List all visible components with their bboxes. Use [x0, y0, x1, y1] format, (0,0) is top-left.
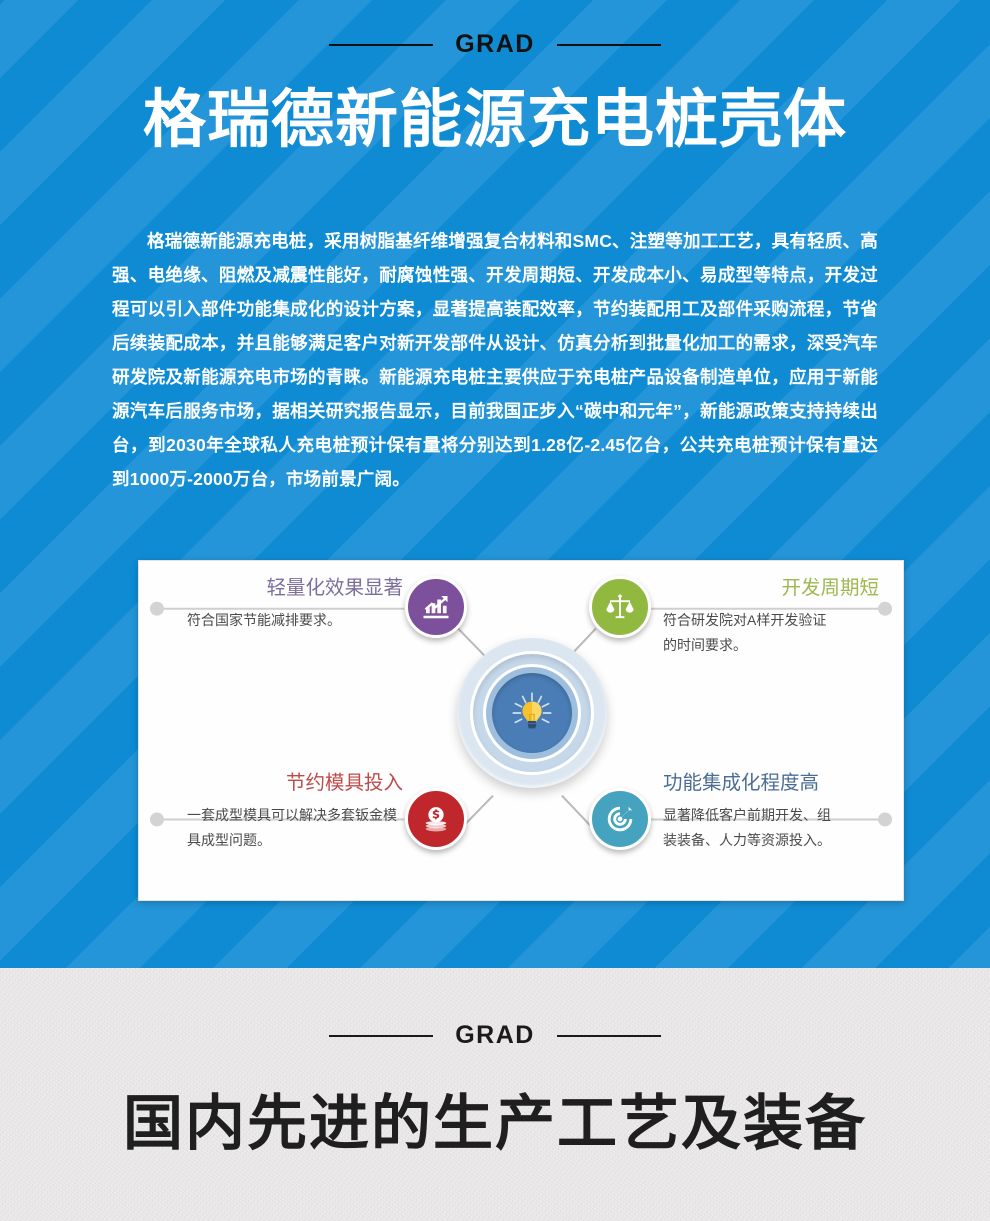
bottom-gray-section: GRAD 国内先进的生产工艺及装备 — [0, 968, 990, 1221]
bottom-eyebrow: GRAD — [0, 968, 990, 1048]
advantage-node-bottom-left — [405, 788, 467, 850]
advantage-description: 符合研发院对A样开发验证的时间要求。 — [637, 608, 827, 658]
advantage-block-top-right: 开发周期短 符合研发院对A样开发验证的时间要求。 — [637, 578, 881, 658]
advantage-description: 一套成型模具可以解决多套钣金模具成型问题。 — [163, 803, 407, 853]
balance-scale-icon — [605, 592, 635, 622]
eyebrow-rule-left — [329, 1035, 433, 1037]
page-title: 格瑞德新能源充电桩壳体 — [0, 89, 990, 152]
advantages-infographic-card: 轻量化效果显著 符合国家节能减排要求。 开发周期短 符合研发院对A样开发验证的时… — [138, 560, 904, 901]
bottom-section-title: 国内先进的生产工艺及装备 — [0, 1094, 990, 1154]
advantage-node-bottom-right — [589, 788, 651, 850]
money-coins-icon — [421, 804, 451, 834]
advantage-node-top-right — [589, 576, 651, 638]
brand-label: GRAD — [455, 32, 535, 57]
brand-label: GRAD — [455, 1023, 535, 1048]
infographic-center-hub — [457, 638, 607, 788]
eyebrow-rule-left — [329, 44, 433, 46]
advantage-title: 节约模具投入 — [163, 773, 407, 794]
advantage-description: 显著降低客户前期开发、组装装备、人力等资源投入。 — [637, 803, 837, 853]
product-detail-page: GRAD 格瑞德新能源充电桩壳体 格瑞德新能源充电桩，采用树脂基纤维增强复合材料… — [0, 0, 990, 1221]
advantage-description: 符合国家节能减排要求。 — [163, 608, 407, 633]
growth-chart-icon — [421, 592, 451, 622]
eyebrow-rule-right — [557, 1035, 661, 1037]
advantage-block-top-left: 轻量化效果显著 符合国家节能减排要求。 — [163, 578, 407, 633]
product-description-paragraph: 格瑞德新能源充电桩，采用树脂基纤维增强复合材料和SMC、注塑等加工工艺，具有轻质… — [112, 224, 878, 496]
advantage-block-bottom-left: 节约模具投入 一套成型模具可以解决多套钣金模具成型问题。 — [163, 773, 407, 853]
top-eyebrow: GRAD — [0, 0, 990, 57]
advantage-title: 轻量化效果显著 — [163, 578, 407, 599]
eyebrow-rule-right — [557, 44, 661, 46]
lightbulb-icon — [507, 688, 557, 738]
advantage-node-top-left — [405, 576, 467, 638]
target-icon — [605, 804, 635, 834]
advantage-block-bottom-right: 功能集成化程度高 显著降低客户前期开发、组装装备、人力等资源投入。 — [637, 773, 881, 853]
advantage-title: 开发周期短 — [637, 578, 881, 599]
hero-blue-section: GRAD 格瑞德新能源充电桩壳体 格瑞德新能源充电桩，采用树脂基纤维增强复合材料… — [0, 0, 990, 968]
advantage-title: 功能集成化程度高 — [637, 773, 881, 794]
